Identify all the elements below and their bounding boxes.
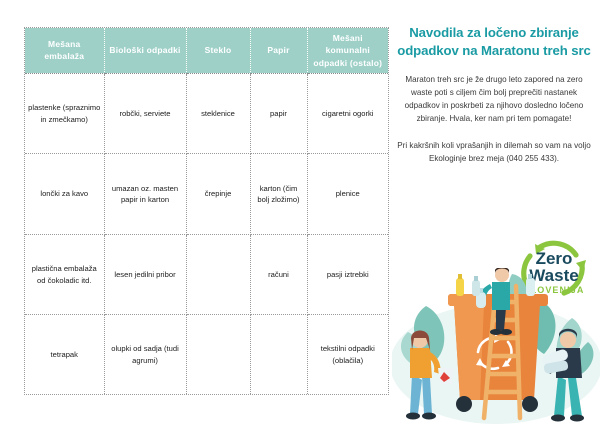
person-head — [560, 332, 576, 348]
cell-papir: računi — [250, 234, 307, 314]
cell-bioloski-odpadki: lesen jedilni pribor — [104, 234, 186, 314]
column-header-mesani-komunalni-odpadki: Mešani komunalni odpadki (ostalo) — [307, 28, 388, 73]
bin-wheel-left — [456, 396, 472, 412]
cell-bioloski-odpadki: umazan oz. masten papir in karton — [104, 154, 186, 234]
contact-paragraph: Pri kakršnih koli vprašanjih in dilemah … — [396, 139, 592, 165]
bin-wheel-right — [522, 396, 538, 412]
cell-mesana-embalaza: plastična embalaža od čokoladic itd. — [25, 234, 104, 314]
poster-page: Mešana embalaža Biološki odpadki Steklo … — [0, 0, 600, 425]
cell-mesani-komunalni: cigaretni ogorki — [307, 73, 388, 153]
table-header-row: Mešana embalaža Biološki odpadki Steklo … — [25, 28, 388, 73]
recycling-illustration — [392, 268, 600, 425]
cell-bioloski-odpadki: robčki, serviete — [104, 73, 186, 153]
column-header-steklo: Steklo — [186, 28, 250, 73]
cell-mesani-komunalni: tekstilni odpadki (oblačila) — [307, 315, 388, 394]
column-header-mesana-embalaza: Mešana embalaža — [25, 28, 104, 73]
cell-steklo — [186, 315, 250, 394]
table-row: tetrapak olupki od sadja (tudi agrumi) t… — [25, 315, 388, 394]
cell-mesani-komunalni: plenice — [307, 154, 388, 234]
page-title: Navodila za ločeno zbiranje odpadkov na … — [396, 24, 592, 59]
intro-paragraph: Maraton treh src je že drugo leto zapore… — [396, 73, 592, 125]
cell-steklo — [186, 234, 250, 314]
column-header-bioloski-odpadki: Biološki odpadki — [104, 28, 186, 73]
cell-papir — [250, 315, 307, 394]
waste-sorting-table-container: Mešana embalaža Biološki odpadki Steklo … — [25, 28, 388, 394]
table-row: plastična embalaža od čokoladic itd. les… — [25, 234, 388, 314]
person-head — [495, 268, 509, 282]
cell-papir: papir — [250, 73, 307, 153]
cell-mesana-embalaza: tetrapak — [25, 315, 104, 394]
cell-mesana-embalaza: lončki za kavo — [25, 154, 104, 234]
table-row: plastenke (spraznimo in zmečkamo) robčki… — [25, 73, 388, 153]
cell-mesani-komunalni: pasji iztrebki — [307, 234, 388, 314]
waste-sorting-table: Mešana embalaža Biološki odpadki Steklo … — [25, 28, 388, 394]
cell-steklo: črepinje — [186, 154, 250, 234]
cell-bioloski-odpadki: olupki od sadja (tudi agrumi) — [104, 315, 186, 394]
cell-papir: karton (čim bolj zložimo) — [250, 154, 307, 234]
cell-steklo: steklenice — [186, 73, 250, 153]
column-header-papir: Papir — [250, 28, 307, 73]
table-row: lončki za kavo umazan oz. masten papir i… — [25, 154, 388, 234]
cell-mesana-embalaza: plastenke (spraznimo in zmečkamo) — [25, 73, 104, 153]
info-panel: Navodila za ločeno zbiranje odpadkov na … — [396, 24, 592, 178]
